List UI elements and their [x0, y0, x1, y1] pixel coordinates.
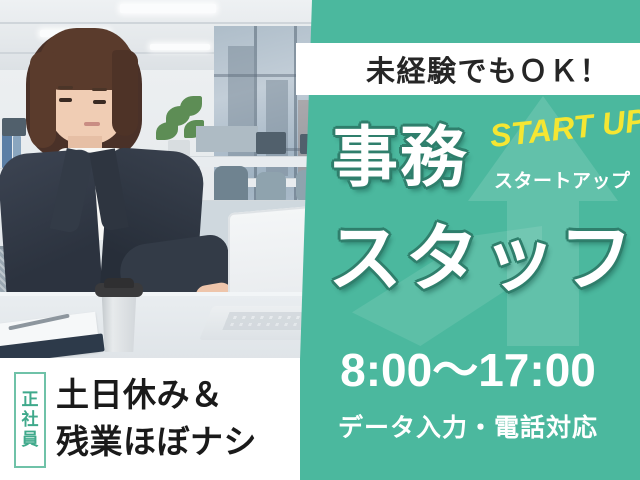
- desk-partition: [196, 126, 258, 152]
- coffee-cup-lid-top: [104, 278, 134, 288]
- employment-type-badge: 正 社 員: [14, 372, 46, 468]
- job-title-line2: スタッフ: [328, 222, 636, 296]
- person-hair-side: [112, 50, 138, 136]
- person-eyebrow: [92, 88, 107, 91]
- monitor: [256, 132, 286, 154]
- person-eye: [59, 98, 72, 102]
- job-duties-text: データ入力・電話対応: [296, 408, 640, 444]
- person-mouth: [84, 122, 100, 126]
- benefits-text: 土日休み＆ 残業ほぼナシ: [56, 372, 257, 466]
- ceiling-line: [0, 22, 340, 24]
- job-ad-banner: 未経験でもＯＫ！ 事務 START UP スタートアップ スタッフ 8:00〜1…: [0, 0, 640, 480]
- office-worker-photo: [0, 0, 340, 360]
- no-experience-ok-text: 未経験でもＯＫ！: [340, 43, 636, 95]
- working-hours-text: 8:00〜17:00: [296, 334, 640, 400]
- badge-char-3: 員: [22, 431, 39, 449]
- ceiling-light: [120, 4, 216, 13]
- job-title-line1: 事務: [332, 124, 468, 190]
- startup-japanese-label: スタートアップ: [494, 166, 631, 193]
- person-eye: [93, 100, 106, 104]
- person-eyebrow: [58, 86, 73, 89]
- benefit-line-2: 残業ほぼナシ: [56, 419, 257, 466]
- benefit-line-1: 土日休み＆: [56, 372, 257, 419]
- badge-char-2: 社: [22, 411, 39, 429]
- ceiling-light: [150, 44, 210, 50]
- monitor: [2, 118, 26, 136]
- person-hair-side: [30, 52, 56, 148]
- badge-char-1: 正: [22, 391, 39, 409]
- coffee-cup: [98, 288, 140, 352]
